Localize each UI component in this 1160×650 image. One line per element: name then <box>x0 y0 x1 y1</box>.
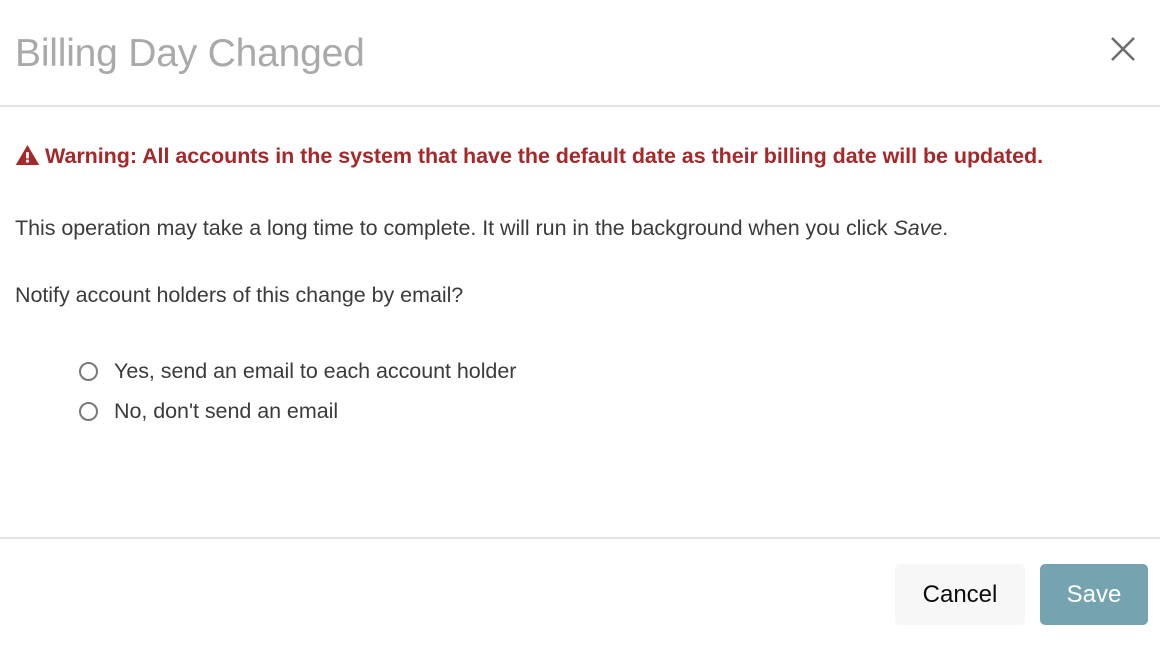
operation-note-part1: This operation may take a long time to c… <box>15 216 893 240</box>
warning-triangle-icon <box>15 144 40 166</box>
radio-label-yes: Yes, send an email to each account holde… <box>114 361 516 383</box>
radio-option-no[interactable]: No, don't send an email <box>79 392 1145 432</box>
warning-message: Warning: All accounts in the system that… <box>15 137 1090 176</box>
close-icon <box>1108 34 1138 64</box>
radio-label-no: No, don't send an email <box>114 401 338 423</box>
radio-option-yes[interactable]: Yes, send an email to each account holde… <box>79 352 1145 392</box>
operation-note: This operation may take a long time to c… <box>15 212 1145 244</box>
dialog-footer: Cancel Save <box>0 537 1160 650</box>
notify-question: Notify account holders of this change by… <box>15 279 1145 311</box>
save-button[interactable]: Save <box>1040 564 1148 625</box>
operation-note-emphasis: Save <box>893 216 942 240</box>
dialog-body: Warning: All accounts in the system that… <box>0 107 1160 537</box>
dialog-header: Billing Day Changed <box>0 0 1160 107</box>
billing-day-changed-dialog: Billing Day Changed Warning: All account… <box>0 0 1160 650</box>
close-button[interactable] <box>1100 26 1146 72</box>
radio-circle-yes[interactable] <box>79 362 98 381</box>
operation-note-part2: . <box>942 216 948 240</box>
notify-radio-group: Yes, send an email to each account holde… <box>15 352 1145 432</box>
radio-circle-no[interactable] <box>79 402 98 421</box>
cancel-button[interactable]: Cancel <box>895 564 1025 625</box>
page-title: Billing Day Changed <box>15 29 365 76</box>
warning-text: Warning: All accounts in the system that… <box>45 144 1043 168</box>
